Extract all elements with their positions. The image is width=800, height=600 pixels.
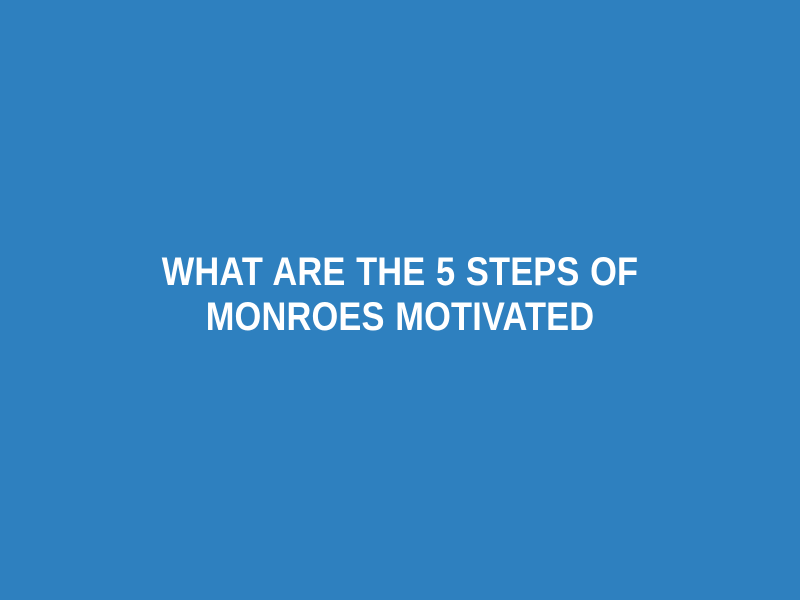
title-card: WHAT ARE THE 5 STEPS OF MONROES MOTIVATE…: [0, 0, 800, 600]
page-title: WHAT ARE THE 5 STEPS OF MONROES MOTIVATE…: [116, 250, 684, 340]
title-block: WHAT ARE THE 5 STEPS OF MONROES MOTIVATE…: [70, 250, 730, 340]
